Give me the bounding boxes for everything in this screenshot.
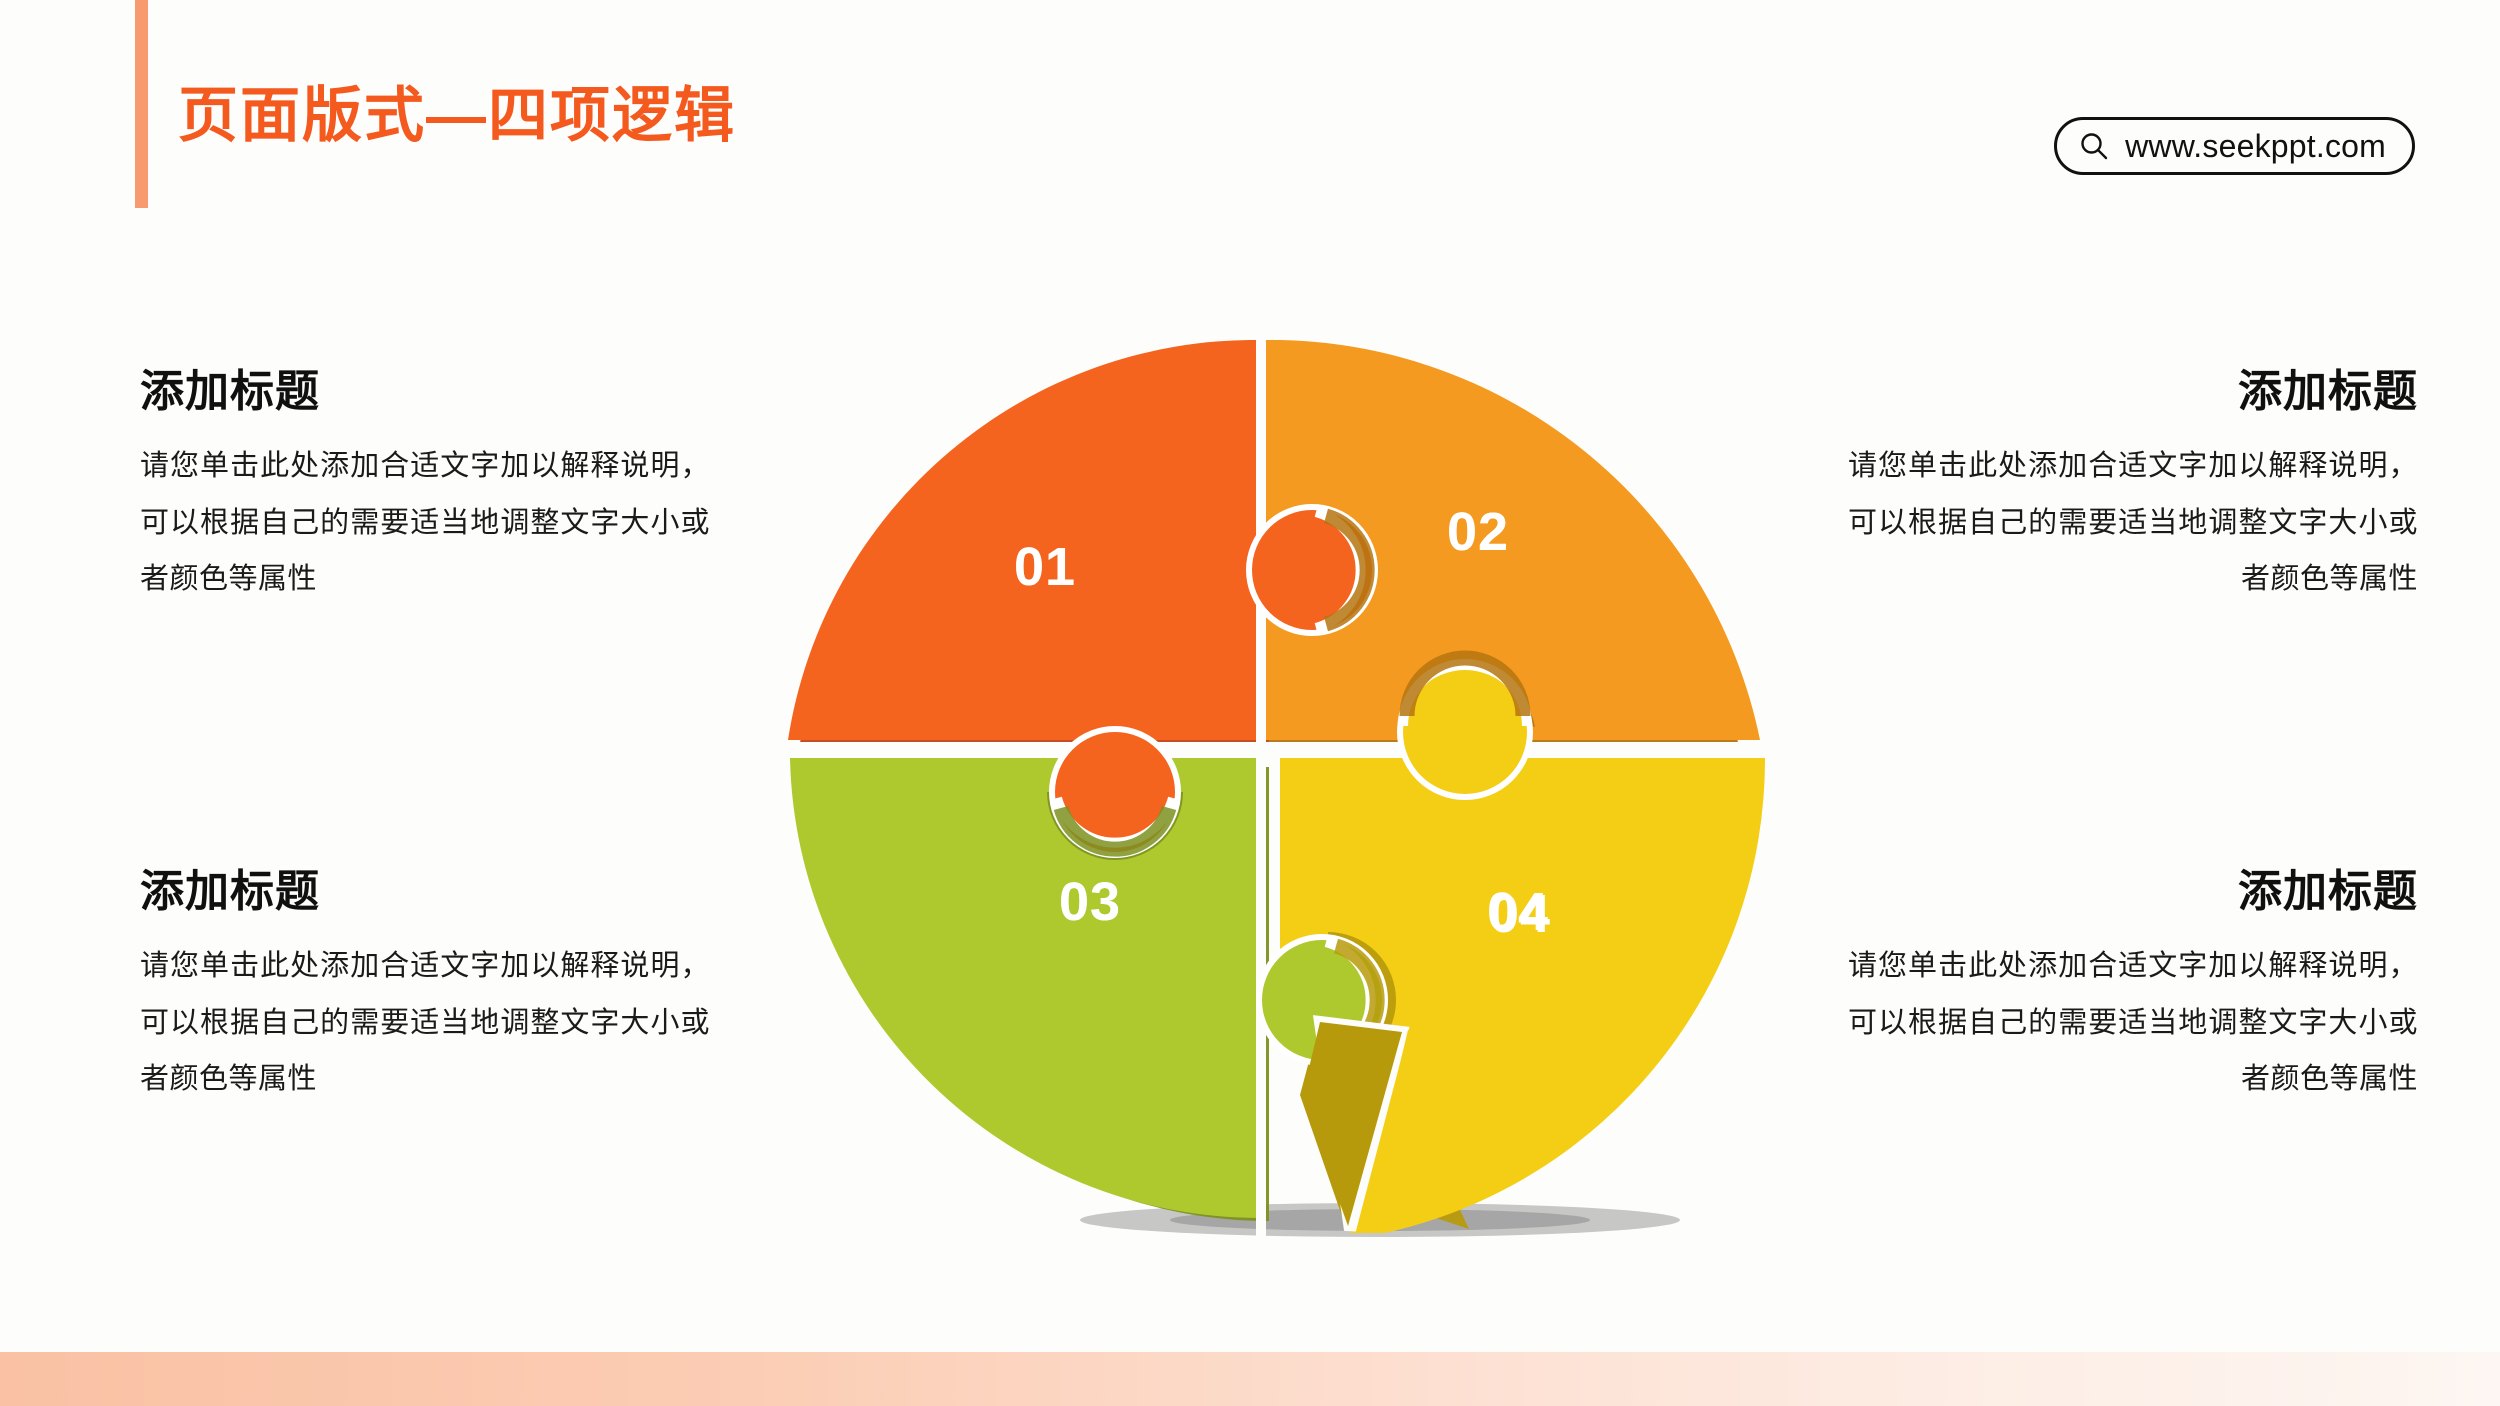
search-icon bbox=[2079, 131, 2109, 161]
footer-gradient-bar bbox=[0, 1352, 2500, 1406]
block-body-03: 请您单击此处添加合适文字加以解释说明，可以根据自己的需要适当地调整文字大小或者颜… bbox=[140, 938, 710, 1108]
puzzle-speech-bubble-diagram: 04 03 01 bbox=[760, 340, 1780, 1280]
label-02: 02 bbox=[1447, 502, 1509, 562]
header-accent-bar bbox=[135, 0, 148, 208]
text-block-03: 添加标题 请您单击此处添加合适文字加以解释说明，可以根据自己的需要适当地调整文字… bbox=[140, 868, 710, 1108]
text-block-04: 添加标题 请您单击此处添加合适文字加以解释说明，可以根据自己的需要适当地调整文字… bbox=[1848, 868, 2418, 1108]
text-block-02: 添加标题 请您单击此处添加合适文字加以解释说明，可以根据自己的需要适当地调整文字… bbox=[1848, 368, 2418, 608]
label-01: 01 bbox=[1014, 537, 1076, 597]
block-body-01: 请您单击此处添加合适文字加以解释说明，可以根据自己的需要适当地调整文字大小或者颜… bbox=[140, 438, 710, 608]
url-badge[interactable]: www.seekppt.com bbox=[2054, 117, 2415, 175]
block-title-03: 添加标题 bbox=[140, 868, 710, 916]
block-body-02: 请您单击此处添加合适文字加以解释说明，可以根据自己的需要适当地调整文字大小或者颜… bbox=[1848, 438, 2418, 608]
text-block-01: 添加标题 请您单击此处添加合适文字加以解释说明，可以根据自己的需要适当地调整文字… bbox=[140, 368, 710, 608]
block-title-01: 添加标题 bbox=[140, 368, 710, 416]
block-title-04: 添加标题 bbox=[1848, 868, 2418, 916]
page-title: 页面版式—四项逻辑 bbox=[178, 86, 736, 146]
block-body-04: 请您单击此处添加合适文字加以解释说明，可以根据自己的需要适当地调整文字大小或者颜… bbox=[1848, 938, 2418, 1108]
url-text: www.seekppt.com bbox=[2125, 128, 2386, 165]
block-title-02: 添加标题 bbox=[1848, 368, 2418, 416]
horizontal-separator bbox=[760, 742, 1780, 752]
label-03: 03 bbox=[1059, 872, 1121, 932]
label-04: 04 bbox=[1489, 884, 1551, 944]
vertical-separator bbox=[1256, 340, 1266, 1280]
